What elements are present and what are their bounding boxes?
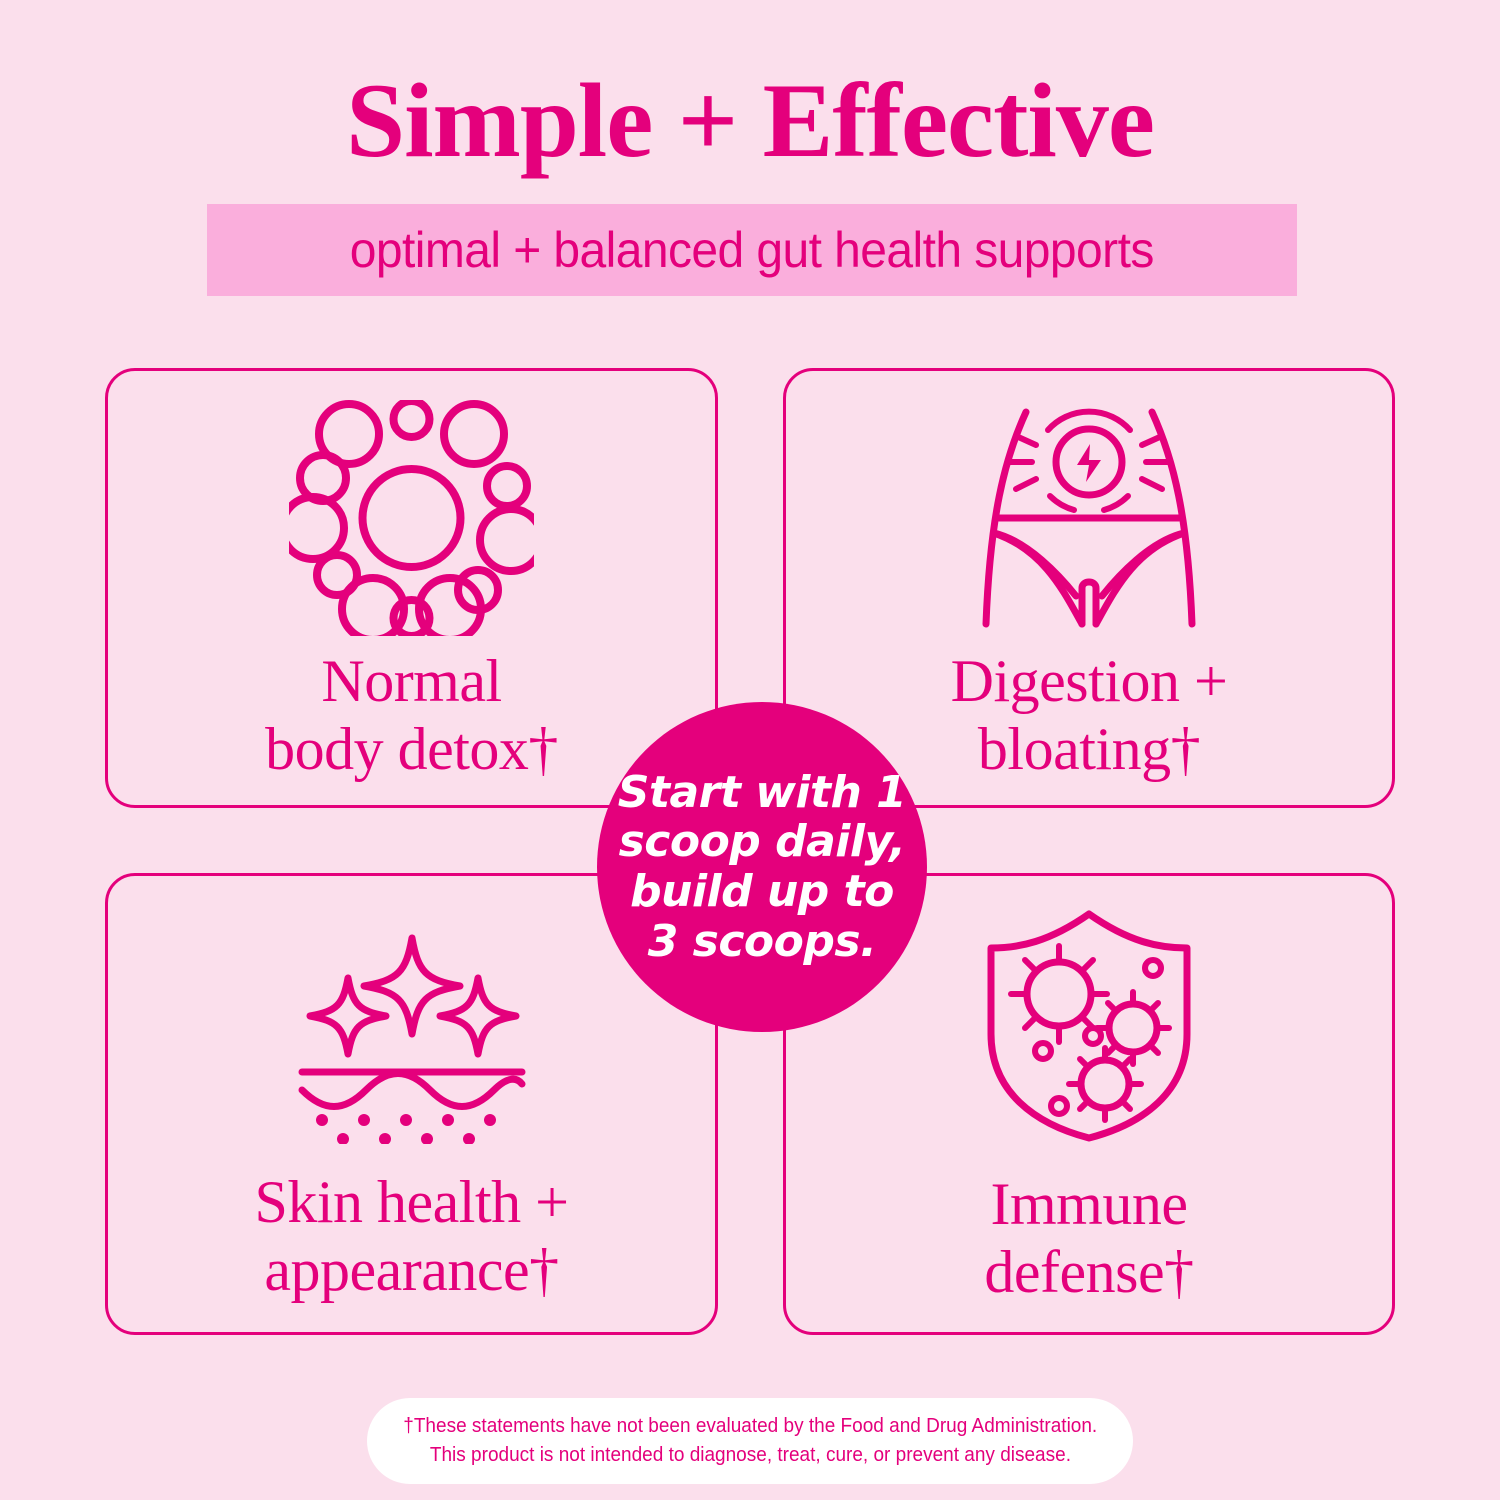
header: Simple + Effective optimal + balanced gu…: [0, 0, 1500, 330]
benefit-label: Normal body detox†: [265, 647, 558, 784]
benefit-card-normal-body-detox: Normal body detox†: [105, 368, 718, 808]
page-title: Simple + Effective: [0, 62, 1500, 181]
benefit-label: Skin health + appearance†: [255, 1168, 569, 1305]
subtitle-text: optimal + balanced gut health supports: [350, 221, 1154, 279]
benefit-card-digestion-bloating: Digestion + bloating†: [783, 368, 1395, 808]
dosage-badge: Start with 1 scoop daily, build up to 3 …: [597, 702, 927, 1032]
subtitle-band: optimal + balanced gut health supports: [207, 204, 1297, 296]
abdomen-bloating-icon: [964, 397, 1214, 641]
disclaimer-line-1: †These statements have not been evaluate…: [403, 1412, 1097, 1441]
shield-germs-icon: [981, 896, 1197, 1156]
benefit-label: Immune defense†: [984, 1170, 1193, 1307]
disclaimer-line-2: This product is not intended to diagnose…: [429, 1441, 1070, 1470]
disclaimer: †These statements have not been evaluate…: [367, 1398, 1133, 1484]
dosage-badge-text: Start with 1 scoop daily, build up to 3 …: [618, 768, 907, 967]
skin-sparkle-icon: [292, 918, 532, 1154]
benefit-label: Digestion + bloating†: [951, 647, 1228, 784]
probiotic-cluster-icon: [289, 393, 534, 643]
